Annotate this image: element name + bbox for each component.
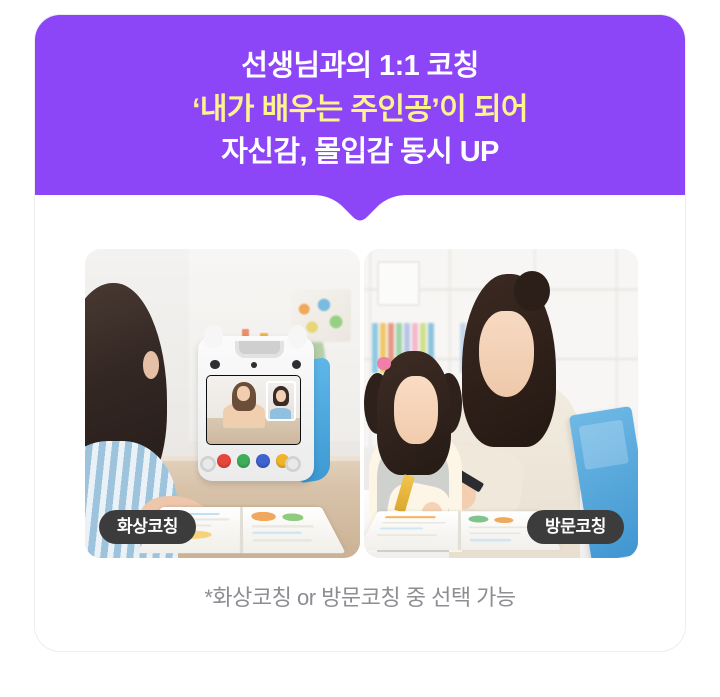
child-ear — [143, 351, 159, 379]
picture-frame-icon — [377, 261, 419, 305]
promo-header: 선생님과의 1:1 코칭 ‘내가 배우는 주인공’이 되어 자신감, 몰입감 동… — [35, 15, 685, 195]
coaching-photo-row: 화상코칭 — [85, 249, 638, 558]
coaching-device — [198, 336, 327, 481]
photo-visit-coaching[interactable]: 방문코칭 — [364, 249, 639, 558]
header-line-3: 자신감, 몰입감 동시 UP — [35, 131, 685, 174]
teacher-face — [479, 311, 534, 398]
device-screen — [206, 375, 301, 445]
selection-note: *화상코칭 or 방문코칭 중 선택 가능 — [35, 580, 685, 612]
badge-video-coaching: 화상코칭 — [99, 510, 196, 544]
student-pip-window — [266, 381, 296, 420]
badge-visit-coaching: 방문코칭 — [527, 510, 624, 544]
photo-video-coaching[interactable]: 화상코칭 — [85, 249, 360, 558]
device-speaker-left — [200, 456, 216, 472]
hair-tie-icon — [377, 357, 391, 369]
promo-card: 선생님과의 1:1 코칭 ‘내가 배우는 주인공’이 되어 자신감, 몰입감 동… — [34, 14, 686, 652]
child-face — [394, 376, 438, 444]
header-line-1: 선생님과의 1:1 코칭 — [35, 45, 685, 88]
header-line-2-highlight: ‘내가 배우는 주인공’이 되어 — [35, 88, 685, 131]
device-buttons — [217, 453, 289, 469]
device-speaker-right — [285, 456, 301, 472]
